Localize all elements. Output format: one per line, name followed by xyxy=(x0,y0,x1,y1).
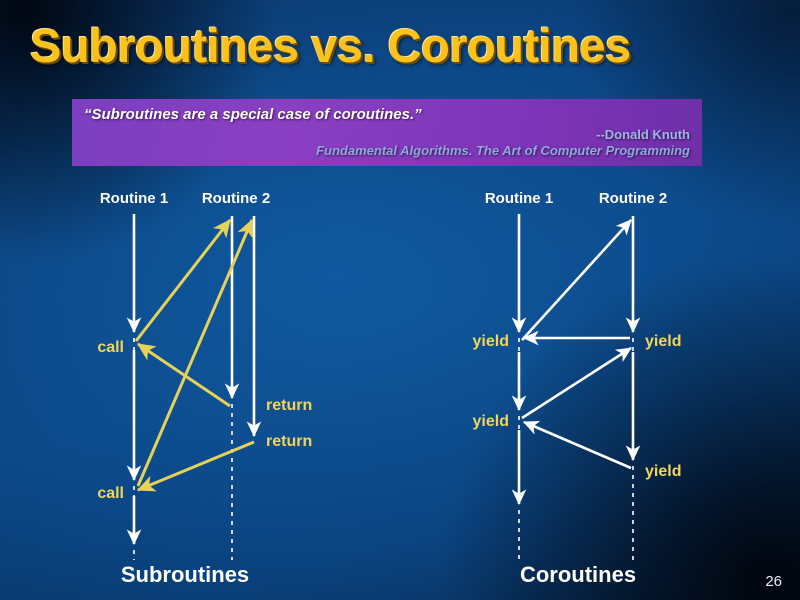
op-label-yield-r1-upper: yield xyxy=(473,333,509,350)
column-header-routine-1: Routine 1 xyxy=(485,190,553,207)
op-label-return-2: return xyxy=(266,433,312,450)
quote-author: --Donald Knuth xyxy=(84,127,692,142)
column-header-routine-1: Routine 1 xyxy=(100,190,168,207)
slide-canvas: Subroutines vs. Coroutines “Subroutines … xyxy=(0,0,800,600)
arrow-call-1 xyxy=(136,220,230,341)
op-label-yield-r2-upper: yield xyxy=(645,333,681,350)
arrow-yield-1 xyxy=(522,220,631,340)
op-label-call-2: call xyxy=(97,485,124,502)
op-label-yield-r1-lower: yield xyxy=(473,413,509,430)
diagram-subroutines: Routine 1 Routine 2 xyxy=(60,186,380,586)
diagram-coroutines: Routine 1 Routine 2 xyxy=(440,186,760,586)
arrow-call-2 xyxy=(138,220,252,486)
diagram-caption-subroutines: Subroutines xyxy=(121,562,249,587)
arrow-return-1 xyxy=(138,344,230,406)
op-label-call-1: call xyxy=(97,339,124,356)
column-header-routine-2: Routine 2 xyxy=(202,190,270,207)
quote-callout-box: “Subroutines are a special case of corou… xyxy=(72,99,702,166)
diagram-caption-coroutines: Coroutines xyxy=(520,562,636,587)
column-header-routine-2: Routine 2 xyxy=(599,190,667,207)
quote-source: Fundamental Algorithms. The Art of Compu… xyxy=(84,143,692,158)
quote-text: “Subroutines are a special case of corou… xyxy=(84,106,692,123)
op-label-yield-r2-lower: yield xyxy=(645,463,681,480)
page-number: 26 xyxy=(765,573,782,590)
op-label-return-1: return xyxy=(266,397,312,414)
arrow-yield-3 xyxy=(522,348,631,418)
arrow-yield-4 xyxy=(524,422,631,468)
page-title: Subroutines vs. Coroutines xyxy=(30,18,770,73)
